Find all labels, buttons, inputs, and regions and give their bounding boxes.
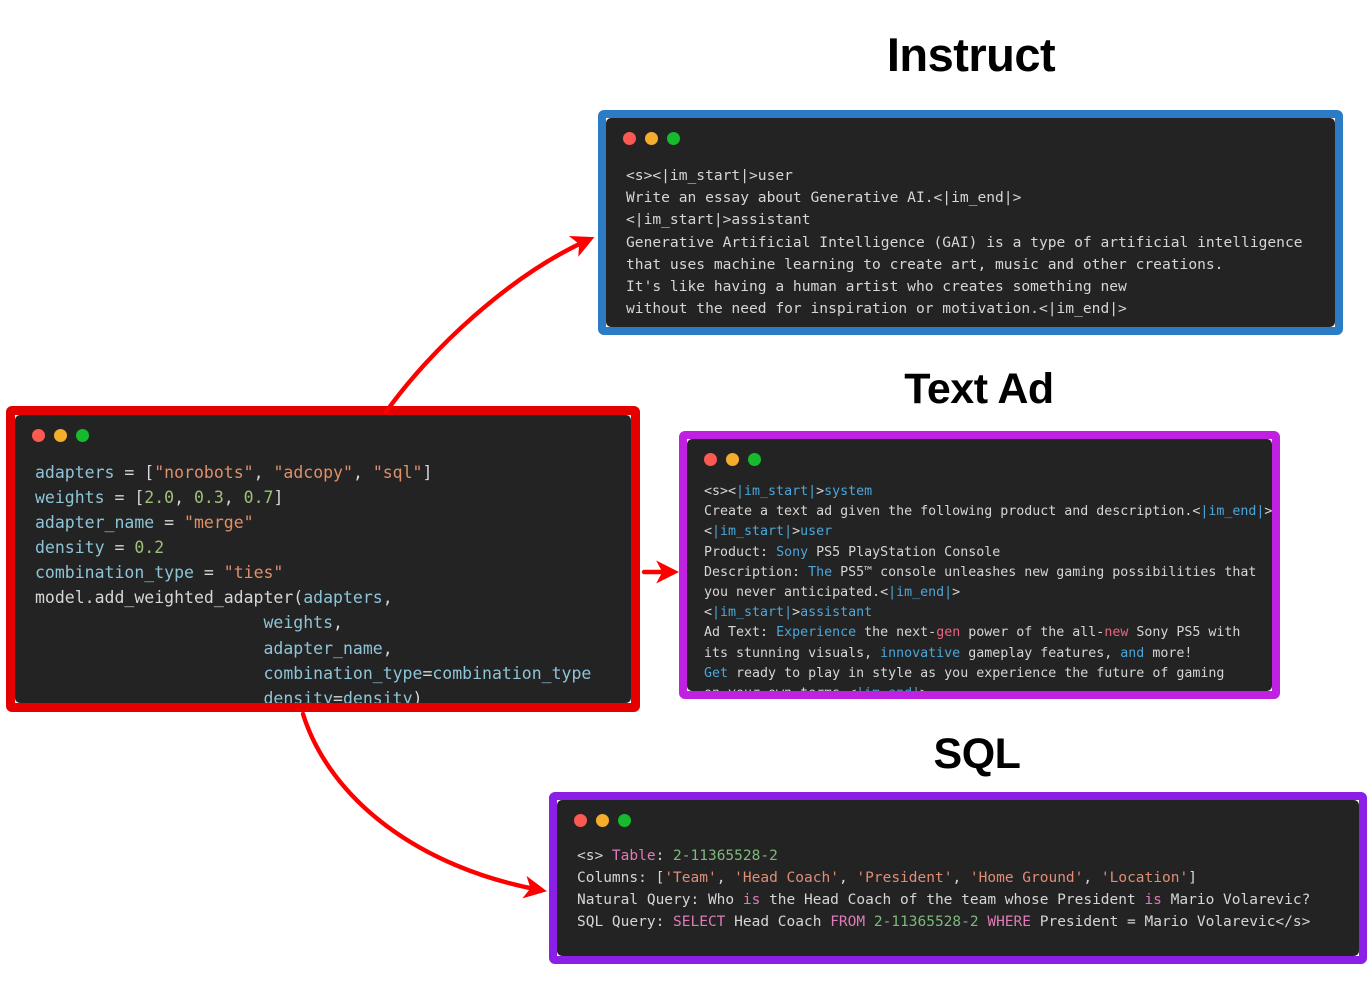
token: |im_end| — [856, 686, 920, 691]
token: <s> — [577, 848, 612, 864]
token: = — [333, 689, 343, 703]
token: FROM — [830, 914, 865, 930]
code-line: weights = [2.0, 0.3, 0.7] — [35, 485, 631, 510]
token: The — [808, 565, 832, 580]
token: Ad Text: — [704, 625, 776, 640]
token: > — [1264, 504, 1272, 519]
arrow-merge-to-sql — [303, 714, 540, 890]
token: model — [35, 588, 85, 607]
token: <s>< — [704, 484, 736, 499]
arrow-merge-to-instruct — [386, 240, 588, 412]
token: <|im_start|>assistant — [626, 211, 811, 228]
traffic-lights-sql — [557, 800, 1359, 827]
token: adapter_name — [35, 513, 154, 532]
token: gen — [936, 625, 960, 640]
traffic-lights-instruct — [606, 118, 1335, 145]
code-line: without the need for inspiration or moti… — [626, 298, 1335, 320]
minimize-icon[interactable] — [645, 132, 658, 145]
code-block-merge: adapters = ["norobots", "adcopy", "sql"]… — [15, 442, 631, 703]
code-line: combination_type=combination_type — [35, 661, 631, 686]
token: is — [1144, 892, 1161, 908]
code-line: <|im_start|>user — [704, 522, 1272, 542]
close-icon[interactable] — [623, 132, 636, 145]
terminal-window-sql: <s> Table: 2-11365528-2Columns: ['Team',… — [549, 792, 1367, 964]
token: "norobots" — [154, 463, 253, 482]
code-line: adapters = ["norobots", "adcopy", "sql"] — [35, 460, 631, 485]
token: combination_type — [263, 664, 422, 683]
code-line: SQL Query: SELECT Head Coach FROM 2-1136… — [577, 911, 1359, 933]
token: adapter_name — [263, 639, 382, 658]
token: its stunning visuals, — [704, 646, 880, 661]
token: ] — [1188, 870, 1197, 886]
token: Create a text ad given the following pro… — [704, 504, 1200, 519]
token: add_weighted_adapter — [95, 588, 294, 607]
token: |im_end| — [888, 585, 952, 600]
token: Description: — [704, 565, 808, 580]
code-line: adapter_name, — [35, 636, 631, 661]
token: > — [952, 585, 960, 600]
token: 2-11365528-2 — [874, 914, 979, 930]
token: : — [656, 848, 673, 864]
token: adapters — [303, 588, 382, 607]
code-line: adapter_name = "merge" — [35, 510, 631, 535]
token: "merge" — [184, 513, 254, 532]
code-line: Description: The PS5™ console unleashes … — [704, 563, 1272, 583]
terminal-inner-text-ad: <s><|im_start|>systemCreate a text ad gi… — [687, 439, 1272, 691]
token — [35, 613, 263, 632]
token: , — [717, 870, 734, 886]
code-line: <|im_start|>assistant — [704, 603, 1272, 623]
maximize-icon[interactable] — [76, 429, 89, 442]
code-line: <s> Table: 2-11365528-2 — [577, 845, 1359, 867]
token: = — [422, 664, 432, 683]
maximize-icon[interactable] — [618, 814, 631, 827]
token: , — [383, 588, 393, 607]
token — [865, 914, 874, 930]
code-line: Natural Query: Who is the Head Coach of … — [577, 889, 1359, 911]
token: > — [920, 686, 928, 691]
token: 'Team' — [664, 870, 716, 886]
code-line: <s><|im_start|>system — [704, 482, 1272, 502]
code-line: model.add_weighted_adapter(adapters, — [35, 585, 631, 610]
token: Natural Query: Who — [577, 892, 743, 908]
section-title-sql: SQL — [934, 730, 1021, 779]
terminal-window-merge-code: adapters = ["norobots", "adcopy", "sql"]… — [6, 406, 640, 712]
minimize-icon[interactable] — [54, 429, 67, 442]
token: 'Home Ground' — [970, 870, 1084, 886]
token: "ties" — [224, 563, 284, 582]
code-line: its stunning visuals, innovative gamepla… — [704, 644, 1272, 664]
token: weights — [35, 488, 105, 507]
token — [35, 664, 263, 683]
code-line: Write an essay about Generative AI.<|im_… — [626, 187, 1335, 209]
token: 0.7 — [244, 488, 274, 507]
token: without the need for inspiration or moti… — [626, 300, 1127, 317]
section-title-text-ad: Text Ad — [904, 365, 1053, 414]
token: ready to play in style as you experience… — [728, 666, 1224, 681]
token: adapters — [35, 463, 114, 482]
code-line: Create a text ad given the following pro… — [704, 502, 1272, 522]
maximize-icon[interactable] — [748, 453, 761, 466]
token: Generative Artificial Intelligence (GAI)… — [626, 234, 1303, 251]
traffic-lights-text-ad — [687, 439, 1272, 466]
token: and — [1120, 646, 1144, 661]
code-line: on your own terms.<|im_end|> — [704, 684, 1272, 691]
code-line: density=density) — [35, 686, 631, 703]
traffic-lights-merge — [15, 415, 631, 442]
token: system — [824, 484, 872, 499]
token: new — [1104, 625, 1128, 640]
token: President = Mario Volarevic</s> — [1031, 914, 1310, 930]
token — [35, 689, 263, 703]
close-icon[interactable] — [704, 453, 717, 466]
code-line: density = 0.2 — [35, 535, 631, 560]
token: Sony — [776, 545, 808, 560]
token: PS5™ console unleashes new gaming possib… — [832, 565, 1256, 580]
token: "adcopy" — [273, 463, 352, 482]
token: < — [704, 605, 712, 620]
token: <s><|im_start|>user — [626, 167, 793, 184]
token: gameplay features, — [960, 646, 1120, 661]
token: Product: — [704, 545, 776, 560]
token: PS5 PlayStation Console — [808, 545, 1000, 560]
token: density — [263, 689, 333, 703]
terminal-window-instruct: <s><|im_start|>userWrite an essay about … — [598, 110, 1343, 335]
chat-transcript-text-ad: <s><|im_start|>systemCreate a text ad gi… — [687, 466, 1272, 691]
terminal-window-text-ad: <s><|im_start|>systemCreate a text ad gi… — [679, 431, 1280, 699]
token: innovative — [880, 646, 960, 661]
token: user — [800, 524, 832, 539]
token: combination_type — [432, 664, 591, 683]
code-line: It's like having a human artist who crea… — [626, 276, 1335, 298]
chat-transcript-sql: <s> Table: 2-11365528-2Columns: ['Team',… — [557, 827, 1359, 933]
token: , — [383, 639, 393, 658]
token: > — [792, 605, 800, 620]
token: It's like having a human artist who crea… — [626, 278, 1127, 295]
terminal-inner-sql: <s> Table: 2-11365528-2Columns: ['Team',… — [557, 800, 1359, 956]
token: 'President' — [856, 870, 952, 886]
token: WHERE — [987, 914, 1031, 930]
token: SQL Query: — [577, 914, 673, 930]
token: SELECT — [673, 914, 725, 930]
code-line: <s><|im_start|>user — [626, 165, 1335, 187]
token: assistant — [800, 605, 872, 620]
token: the Head Coach of the team whose Preside… — [760, 892, 1144, 908]
token: 'Location' — [1101, 870, 1188, 886]
token: . — [85, 588, 95, 607]
token: , — [224, 488, 244, 507]
minimize-icon[interactable] — [596, 814, 609, 827]
token: 2-11365528-2 — [673, 848, 778, 864]
token: 'Head Coach' — [734, 870, 839, 886]
token: "sql" — [373, 463, 423, 482]
code-line: that uses machine learning to create art… — [626, 254, 1335, 276]
token: power of the all- — [960, 625, 1104, 640]
minimize-icon[interactable] — [726, 453, 739, 466]
token: ] — [273, 488, 283, 507]
code-line: Generative Artificial Intelligence (GAI)… — [626, 232, 1335, 254]
token: Sony PS5 with — [1128, 625, 1240, 640]
token: Get — [704, 666, 728, 681]
close-icon[interactable] — [574, 814, 587, 827]
token: |im_start| — [712, 524, 792, 539]
close-icon[interactable] — [32, 429, 45, 442]
code-line: Columns: ['Team', 'Head Coach', 'Preside… — [577, 867, 1359, 889]
token: > — [792, 524, 800, 539]
token: , — [254, 463, 274, 482]
token: Columns: [ — [577, 870, 664, 886]
code-line: weights, — [35, 610, 631, 635]
token: , — [333, 613, 343, 632]
token: ) — [413, 689, 423, 703]
token: = [ — [105, 488, 145, 507]
token: |im_start| — [736, 484, 816, 499]
code-line: <|im_start|>assistant — [626, 209, 1335, 231]
token: 2.0 — [144, 488, 174, 507]
token: Table — [612, 848, 656, 864]
token: you never anticipated.< — [704, 585, 888, 600]
maximize-icon[interactable] — [667, 132, 680, 145]
token: weights — [263, 613, 333, 632]
code-line: you never anticipated.<|im_end|> — [704, 583, 1272, 603]
token: ] — [422, 463, 432, 482]
token: Write an essay about Generative AI.<|im_… — [626, 189, 1021, 206]
token: ( — [293, 588, 303, 607]
token: Mario Volarevic? — [1162, 892, 1310, 908]
token: , — [1083, 870, 1100, 886]
token: on your own terms.< — [704, 686, 856, 691]
token: |im_end| — [1200, 504, 1264, 519]
token: = [ — [114, 463, 154, 482]
token: |im_start| — [712, 605, 792, 620]
token: 0.2 — [134, 538, 164, 557]
terminal-inner-instruct: <s><|im_start|>userWrite an essay about … — [606, 118, 1335, 327]
token: Experience — [776, 625, 856, 640]
terminal-inner-merge: adapters = ["norobots", "adcopy", "sql"]… — [15, 415, 631, 703]
token: more! — [1144, 646, 1192, 661]
token: > — [816, 484, 824, 499]
token: is — [743, 892, 760, 908]
token: = — [105, 538, 135, 557]
chat-transcript-instruct: <s><|im_start|>userWrite an essay about … — [606, 145, 1335, 320]
token — [35, 639, 263, 658]
token: density — [343, 689, 413, 703]
token: , — [174, 488, 194, 507]
section-title-instruct: Instruct — [887, 27, 1055, 82]
token: = — [194, 563, 224, 582]
token: density — [35, 538, 105, 557]
code-line: Get ready to play in style as you experi… — [704, 664, 1272, 684]
code-line: Product: Sony PS5 PlayStation Console — [704, 543, 1272, 563]
code-line: combination_type = "ties" — [35, 560, 631, 585]
token: the next- — [856, 625, 936, 640]
token: < — [704, 524, 712, 539]
token: that uses machine learning to create art… — [626, 256, 1223, 273]
token: = — [154, 513, 184, 532]
code-line: Ad Text: Experience the next-gen power o… — [704, 623, 1272, 643]
token: , — [839, 870, 856, 886]
token: , — [952, 870, 969, 886]
token: combination_type — [35, 563, 194, 582]
token: , — [353, 463, 373, 482]
token: Head Coach — [725, 914, 830, 930]
token: 0.3 — [194, 488, 224, 507]
